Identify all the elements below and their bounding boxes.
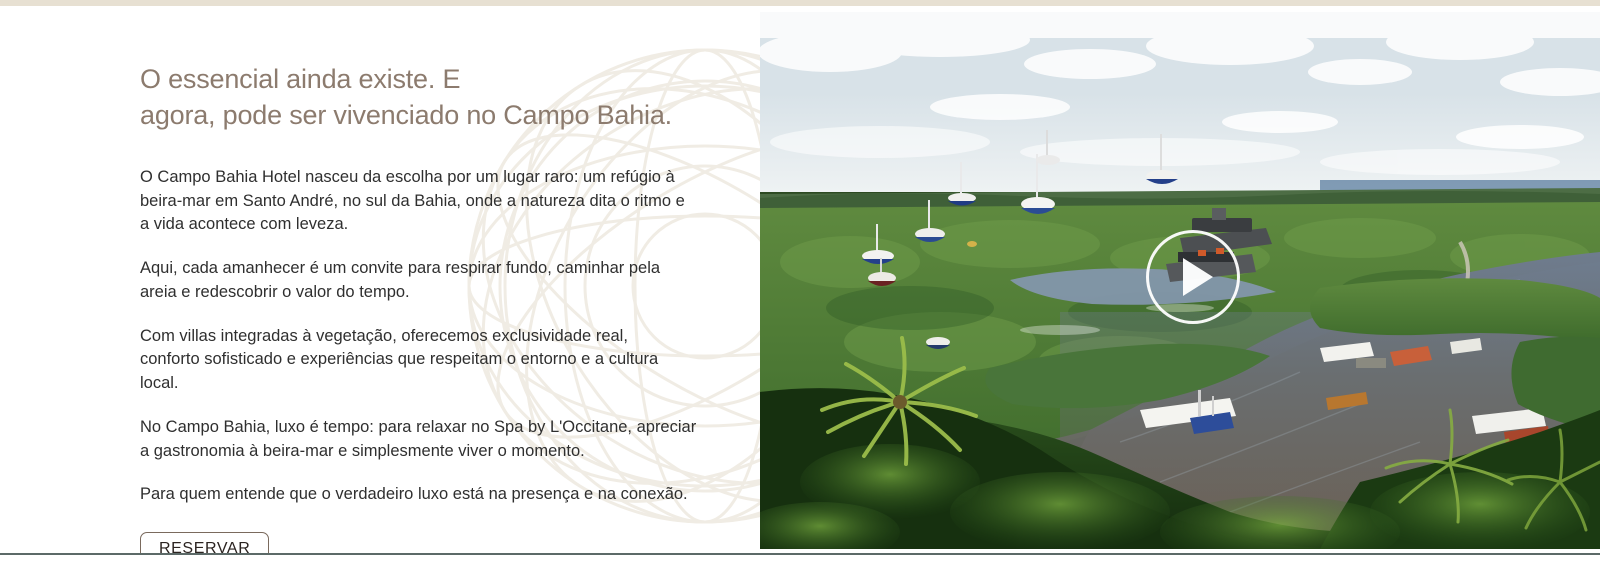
paragraph: No Campo Bahia, luxo é tempo: para relax… xyxy=(140,416,706,464)
page-title: O essencial ainda existe. E agora, pode … xyxy=(140,62,740,134)
text-panel: O essencial ainda existe. E agora, pode … xyxy=(0,6,760,553)
video-thumbnail[interactable] xyxy=(760,12,1600,549)
play-icon xyxy=(1183,258,1213,296)
play-button[interactable] xyxy=(1146,230,1240,324)
paragraph: Para quem entende que o verdadeiro luxo … xyxy=(140,483,706,507)
paragraph: O Campo Bahia Hotel nasceu da escolha po… xyxy=(140,166,706,237)
body-copy: O Campo Bahia Hotel nasceu da escolha po… xyxy=(140,166,740,507)
promo-banner: O essencial ainda existe. E agora, pode … xyxy=(0,0,1600,561)
paragraph: Com villas integradas à vegetação, ofere… xyxy=(140,325,706,396)
bottom-divider xyxy=(0,553,1600,561)
reservar-button[interactable]: RESERVAR xyxy=(140,532,269,553)
paragraph: Aqui, cada amanhecer é um convite para r… xyxy=(140,257,706,305)
text-content: O essencial ainda existe. E agora, pode … xyxy=(140,6,740,553)
